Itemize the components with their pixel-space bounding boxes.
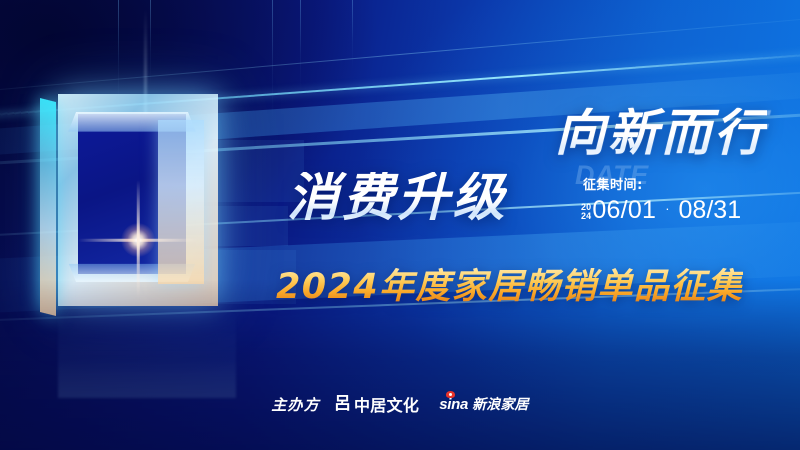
headline-line-1: 向新而行 xyxy=(555,108,767,158)
date-end: 08/31 xyxy=(679,196,742,225)
date-separator: · xyxy=(665,201,669,216)
flare-core xyxy=(121,223,155,257)
subtitle-text: 2024年度家居畅销单品征集 xyxy=(276,258,743,309)
star-flare-icon xyxy=(136,238,140,242)
organizer-label: 主办方 xyxy=(271,394,320,415)
date-start: 06/01 xyxy=(592,196,656,225)
date-range: 20 24 06/01 · 08/31 xyxy=(581,196,741,225)
footer-sponsors: 主办方 呂 中居文化 sina 新浪家居 xyxy=(0,392,800,416)
light-column xyxy=(300,0,301,92)
zhongju-mark-icon: 呂 xyxy=(334,396,351,413)
light-column xyxy=(352,0,353,70)
sina-wordmark-icon: sina xyxy=(439,397,468,412)
headline-line-2: 消费升级 xyxy=(287,172,507,224)
subtitle-wrap: 2024年度家居畅销单品征集 xyxy=(276,258,743,309)
light-column xyxy=(150,0,151,86)
sponsor-logo-sina[interactable]: sina 新浪家居 xyxy=(439,394,528,414)
promo-banner: 向新而行 消费升级 DATE 征集时间: 20 24 06/01 · 08/31… xyxy=(0,0,800,450)
zhongju-label: 中居文化 xyxy=(354,392,419,416)
sina-eye-icon xyxy=(446,391,455,398)
sina-label: 新浪家居 xyxy=(472,394,529,414)
date-year-bottom: 24 xyxy=(581,212,591,221)
sponsor-logo-zhongju[interactable]: 呂 中居文化 xyxy=(334,392,419,416)
door-open-panel xyxy=(158,120,204,284)
date-label: 征集时间: xyxy=(583,174,643,193)
date-year: 20 24 xyxy=(581,200,591,221)
sina-wordmark-text: sina xyxy=(439,396,468,413)
light-column xyxy=(272,0,273,120)
